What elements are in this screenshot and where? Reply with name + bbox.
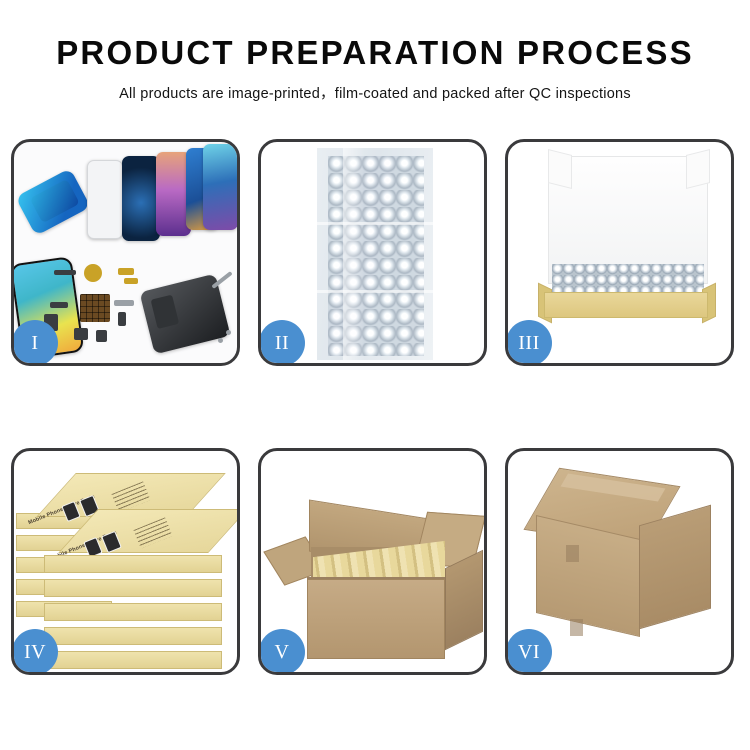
panel-step-1: I <box>11 139 240 366</box>
connector-part <box>124 278 138 284</box>
small-flex-part <box>50 302 68 308</box>
mailer-flap-right <box>686 149 710 189</box>
screw-part <box>226 330 231 335</box>
panel-step-2: II <box>258 139 487 366</box>
carton-right-face <box>639 505 711 630</box>
box-edge <box>44 603 222 621</box>
carton-front-face <box>307 579 445 659</box>
page-title: PRODUCT PREPARATION PROCESS <box>0 36 750 71</box>
bubble-highlight <box>343 148 365 360</box>
camera-module-part <box>118 312 126 326</box>
mailer-box-front <box>544 292 708 318</box>
front-glass-screen <box>87 160 123 239</box>
step-badge-1: I <box>12 320 58 366</box>
panel-step-4: Mobile Phone Spare Parts Mobile Phone Sp… <box>11 448 240 675</box>
vibrator-part <box>74 328 88 340</box>
mailer-flap-left <box>548 149 572 189</box>
lcd-display-dark <box>122 156 160 241</box>
header: PRODUCT PREPARATION PROCESS All products… <box>0 0 750 103</box>
lcd-display-gradient <box>203 144 237 230</box>
panel-step-3: III <box>505 139 734 366</box>
wrap-seam <box>317 290 433 293</box>
adhesive-frame-part <box>15 168 90 236</box>
bubble-wrap-sleeve <box>317 148 433 360</box>
process-panel-grid: I II <box>11 139 739 675</box>
page-subtitle: All products are image-printed，film-coat… <box>0 82 750 103</box>
carton-tab <box>570 619 583 636</box>
step-badge-3: III <box>506 320 552 366</box>
earpiece-part <box>54 270 76 275</box>
screw-part <box>218 338 223 343</box>
box-edge <box>44 651 222 669</box>
bubble-wrapped-contents <box>552 264 704 294</box>
infographic-page: PRODUCT PREPARATION PROCESS All products… <box>0 0 750 750</box>
step-badge-6: VI <box>506 629 552 675</box>
speaker-part <box>84 264 102 282</box>
box-edge <box>44 627 222 645</box>
carton-side-face <box>445 550 483 651</box>
circuit-chip-part <box>80 294 110 322</box>
step-badge-5: V <box>259 629 305 675</box>
button-part <box>96 330 107 342</box>
antenna-part <box>114 300 134 306</box>
wrap-seam <box>317 222 433 225</box>
box-edge <box>44 555 222 573</box>
carton-tab <box>566 545 579 562</box>
flex-cable-part <box>118 268 134 275</box>
box-edge <box>44 579 222 597</box>
panel-step-6: VI <box>505 448 734 675</box>
step-badge-2: II <box>259 320 305 366</box>
step-badge-4: IV <box>12 629 58 675</box>
panel-step-5: V <box>258 448 487 675</box>
